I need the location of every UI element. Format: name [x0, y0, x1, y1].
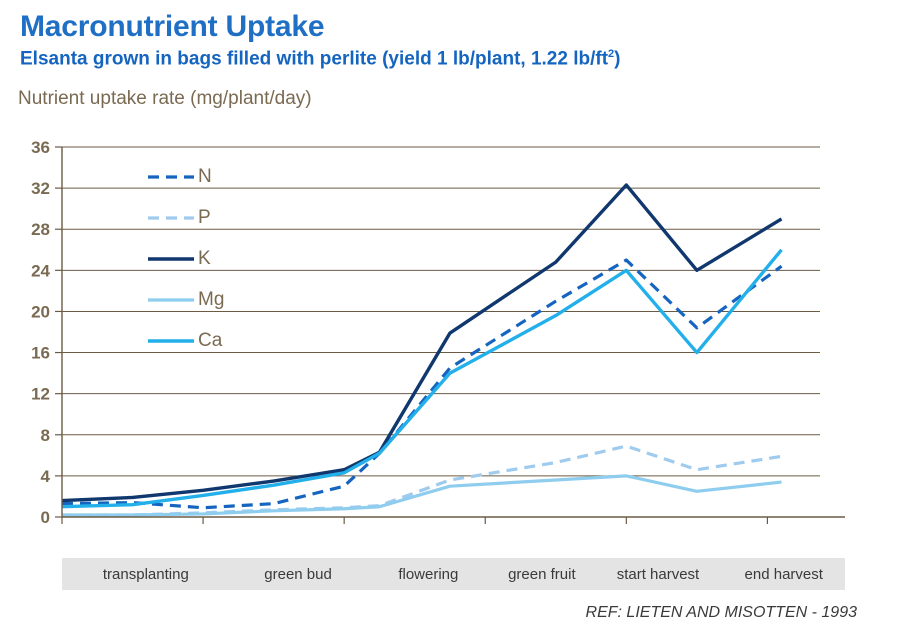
legend-label-mg: Mg	[198, 289, 224, 310]
x-axis-tick-label: 1-Feb	[180, 529, 225, 530]
y-axis-tick-label: 12	[31, 385, 50, 404]
y-axis-tick-label: 8	[41, 426, 50, 445]
legend-label-n: N	[198, 166, 212, 187]
y-axis-tick-label: 32	[31, 179, 50, 198]
page-subtitle: Elsanta grown in bags filled with perlit…	[20, 48, 621, 70]
x-axis-tick-label: 1-Apr	[463, 529, 508, 530]
subtitle-main: Elsanta grown in bags filled with perlit…	[20, 48, 377, 69]
subtitle-yield-pre: (yield 1 lb/plant, 1.22 lb/ft	[382, 48, 608, 69]
series-line-k	[62, 185, 782, 501]
y-axis-tick-label: 16	[31, 344, 50, 363]
x-axis-tick-label: 1-Mar	[321, 529, 367, 530]
y-axis-tick-label: 24	[31, 261, 50, 280]
y-axis-tick-label: 0	[41, 508, 50, 527]
data-series	[62, 185, 782, 515]
reference-note: REF: LIETEN AND MISOTTEN - 1993	[586, 604, 857, 622]
line-chart-svg: 04812162024283236 1-Jan1-Feb1-Mar1-Apr1-…	[0, 130, 899, 530]
legend-label-k: K	[198, 248, 211, 269]
subtitle-yield-post: )	[614, 48, 620, 69]
x-axis-tick-label: 1-Jan	[40, 529, 84, 530]
chart-plot-area: 04812162024283236 1-Jan1-Feb1-Mar1-Apr1-…	[0, 130, 899, 530]
y-axis-tick-label: 20	[31, 302, 50, 321]
y-axis-tick-label: 36	[31, 138, 50, 157]
x-axis-ticks	[62, 517, 767, 524]
series-line-mg	[62, 476, 782, 515]
stage-label-green-fruit: green fruit	[490, 566, 593, 583]
gridlines	[62, 147, 820, 476]
stage-label-flowering: flowering	[366, 566, 490, 583]
legend-label-p: P	[198, 207, 211, 228]
page-title: Macronutrient Uptake	[20, 10, 324, 44]
stage-label-transplanting: transplanting	[62, 566, 230, 583]
chart-legend: NPKMgCa	[148, 166, 224, 351]
growth-stage-strip: transplantinggreen budfloweringgreen fru…	[62, 558, 845, 590]
y-axis-tick-label: 28	[31, 220, 50, 239]
y-axis-tick-labels: 04812162024283236	[31, 138, 50, 527]
stage-label-end-harvest: end harvest	[722, 566, 845, 583]
x-axis-tick-label: 1-May	[602, 529, 651, 530]
legend-label-ca: Ca	[198, 330, 223, 351]
y-axis-tick-label: 4	[41, 467, 51, 486]
stage-label-start-harvest: start harvest	[593, 566, 722, 583]
x-axis-tick-label: 1-Jun	[745, 529, 790, 530]
y-axis-title: Nutrient uptake rate (mg/plant/day)	[18, 88, 312, 110]
y-axis-ticks	[55, 147, 62, 517]
x-axis-tick-labels: 1-Jan1-Feb1-Mar1-Apr1-May1-Jun	[40, 529, 790, 530]
stage-label-green-bud: green bud	[230, 566, 367, 583]
series-line-p	[62, 446, 782, 515]
